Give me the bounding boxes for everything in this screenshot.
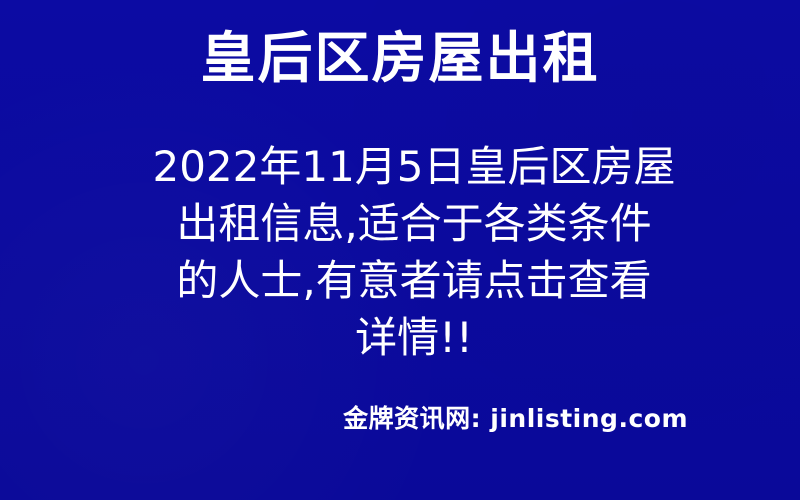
promo-poster: 皇后区房屋出租 2022年11月5日皇后区房屋 出租信息,适合于各类条件 的人士…	[0, 0, 800, 500]
poster-content: 皇后区房屋出租 2022年11月5日皇后区房屋 出租信息,适合于各类条件 的人士…	[0, 0, 800, 500]
page-title: 皇后区房屋出租	[0, 26, 800, 90]
body-line: 出租信息,适合于各类条件	[138, 195, 690, 252]
site-credit: 金牌资讯网: jinlisting.com	[138, 402, 688, 436]
body-line: 2022年11月5日皇后区房屋	[138, 138, 690, 195]
body-text-block: 2022年11月5日皇后区房屋 出租信息,适合于各类条件 的人士,有意者请点击查…	[138, 138, 690, 366]
body-line: 详情!!	[138, 309, 690, 366]
body-line: 的人士,有意者请点击查看	[138, 252, 690, 309]
